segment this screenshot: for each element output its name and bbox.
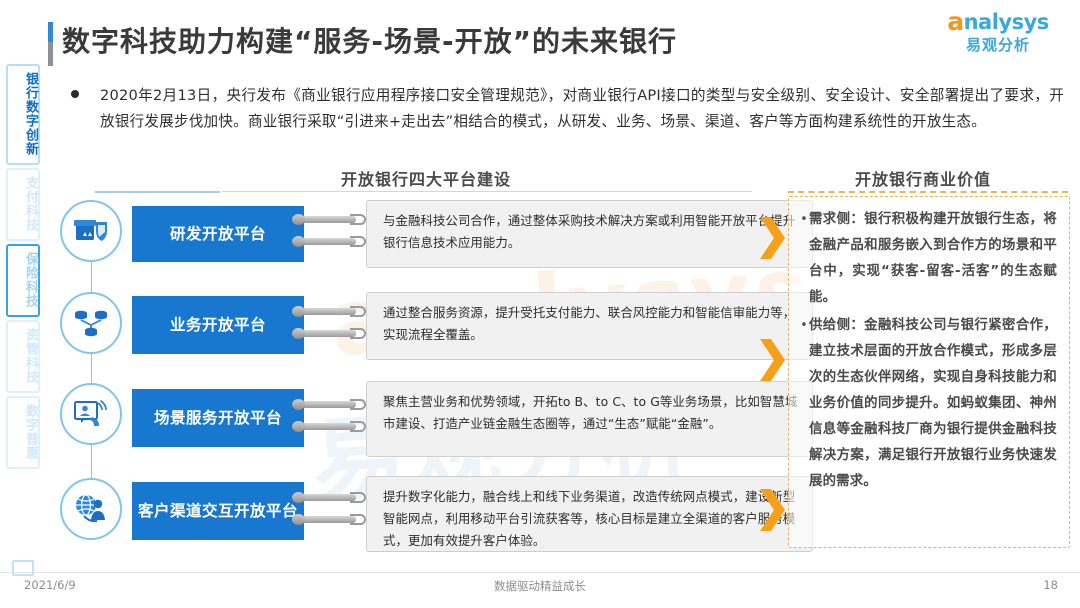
pin-icon — [292, 306, 368, 317]
decorative-square — [12, 560, 34, 576]
pin-icon — [292, 514, 368, 525]
platform-row: 研发开放平台 与金融科技公司合作，通过整体采购技术解决方案或利用智能开放平台提升… — [60, 200, 760, 274]
chevron-right-icon — [758, 337, 786, 383]
section-heading-value: 开放银行商业价值 — [855, 166, 991, 190]
footer-tagline: 数据驱动精益成长 — [0, 578, 1080, 594]
value-panel: • 需求侧：银行积极构建开放银行生态，将金融产品和服务嵌入到合作方的场景和平台中… — [788, 196, 1070, 548]
logo-main-text: nalysys — [964, 10, 1049, 34]
platform-description: 聚焦主营业务和优势领域，开拓to B、to C、to G等业务场景，比如智慧城市… — [366, 381, 813, 457]
connector-pins — [292, 399, 372, 443]
value-list-item: • 供给侧：金融科技公司与银行紧密合作，建立技术层面的开放合作模式，形成多层次的… — [799, 313, 1057, 495]
sidebar-item-payment-tech[interactable]: 支付科技 — [6, 168, 40, 241]
sidebar-item-label: 数字普惠 — [8, 404, 38, 460]
connector-pins — [292, 214, 372, 258]
database-network-icon — [60, 292, 122, 354]
page-title: 数字科技助力构建“服务-场景-开放”的未来银行 — [62, 20, 677, 60]
connector-pins — [292, 492, 372, 536]
platform-description: 与金融科技公司合作，通过整体采购技术解决方案或利用智能开放平台提升银行信息技术应… — [366, 200, 813, 268]
platform-card[interactable]: 研发开放平台 — [132, 206, 304, 262]
pin-icon — [292, 214, 368, 225]
platform-title: 场景服务开放平台 — [154, 389, 282, 447]
monitor-user-signal-icon — [60, 383, 122, 445]
value-bullet-icon: • — [799, 313, 809, 495]
platform-title: 业务开放平台 — [170, 296, 266, 354]
platform-card[interactable]: 业务开放平台 — [132, 296, 304, 354]
chevron-right-icon — [758, 487, 786, 533]
platform-row: 客户渠道交互开放平台 提升数字化能力，融合线上和线下业务渠道，改造传统网点模式，… — [60, 478, 760, 558]
title-accent-bar — [48, 22, 53, 66]
logo-subtitle: 易观分析 — [938, 35, 1058, 55]
chevron-right-icon — [758, 215, 786, 261]
slide-root: analysys 易观分析 数字科技助力构建“服务-场景-开放”的未来银行 an… — [0, 0, 1080, 608]
pin-icon — [292, 236, 368, 247]
sidebar-item-label: 支付科技 — [8, 176, 38, 232]
platform-title: 客户渠道交互开放平台 — [138, 482, 298, 540]
bullet-dot-icon — [71, 90, 79, 98]
sidebar-item-label: 银行数字创新 — [8, 72, 38, 156]
platform-description: 通过整合服务资源，提升受托支付能力、联合风控能力和智能信审能力等，实现流程全覆盖… — [366, 292, 813, 360]
logo-wordmark: analysys — [938, 8, 1058, 35]
platform-row: 场景服务开放平台 聚焦主营业务和优势领域，开拓to B、to C、to G等业务… — [60, 383, 760, 463]
footer-page-number: 18 — [1043, 578, 1058, 592]
section-heading-platforms: 开放银行四大平台建设 — [341, 166, 511, 190]
value-item-text: 需求侧：银行积极构建开放银行生态，将金融产品和服务嵌入到合作方的场景和平台中，实… — [809, 207, 1057, 311]
connector-pins — [292, 306, 372, 350]
pin-icon — [292, 328, 368, 339]
globe-customer-icon — [60, 478, 122, 540]
sidebar-item-label: 保险科技 — [8, 252, 38, 308]
rule-dashed — [788, 191, 1068, 193]
sidebar-item-asset-management-tech[interactable]: 资管科技 — [6, 320, 40, 393]
intro-text: 2020年2月13日，央行发布《商业银行应用程序接口安全管理规范》，对商业银行A… — [100, 83, 1064, 135]
pin-icon — [292, 421, 368, 432]
value-list-item: • 需求侧：银行积极构建开放银行生态，将金融产品和服务嵌入到合作方的场景和平台中… — [799, 207, 1057, 311]
platform-card[interactable]: 场景服务开放平台 — [132, 389, 304, 447]
value-item-text: 供给侧：金融科技公司与银行紧密合作，建立技术层面的开放合作模式，形成多层次的生态… — [809, 313, 1057, 495]
pin-icon — [292, 399, 368, 410]
value-bullet-icon: • — [799, 207, 809, 311]
sidebar-item-digital-inclusive-finance[interactable]: 数字普惠 — [6, 396, 40, 469]
rule-blue — [95, 191, 220, 193]
sidebar-tabs: 银行数字创新 支付科技 保险科技 资管科技 数字普惠 — [6, 64, 40, 472]
footer-divider — [0, 572, 1080, 573]
platform-card[interactable]: 客户渠道交互开放平台 — [132, 482, 304, 540]
platform-description: 提升数字化能力，融合线上和线下业务渠道，改造传统网点模式，建设新型智能网点，利用… — [366, 476, 813, 552]
sidebar-item-label: 资管科技 — [8, 328, 38, 384]
sidebar-item-bank-digital-innovation[interactable]: 银行数字创新 — [6, 64, 40, 165]
intro-paragraph: 2020年2月13日，央行发布《商业银行应用程序接口安全管理规范》，对商业银行A… — [64, 83, 1064, 135]
platform-row: 业务开放平台 通过整合服务资源，提升受托支付能力、联合风控能力和智能信审能力等，… — [60, 292, 760, 366]
platform-title: 研发开放平台 — [170, 206, 266, 262]
vertical-connector-line — [91, 236, 92, 508]
analysys-logo: analysys 易观分析 — [938, 8, 1058, 64]
pin-icon — [292, 492, 368, 503]
package-shield-icon — [60, 200, 122, 262]
sidebar-item-insurance-tech[interactable]: 保险科技 — [6, 244, 40, 317]
rule-gray — [222, 191, 752, 192]
logo-a-mark: a — [947, 9, 963, 35]
